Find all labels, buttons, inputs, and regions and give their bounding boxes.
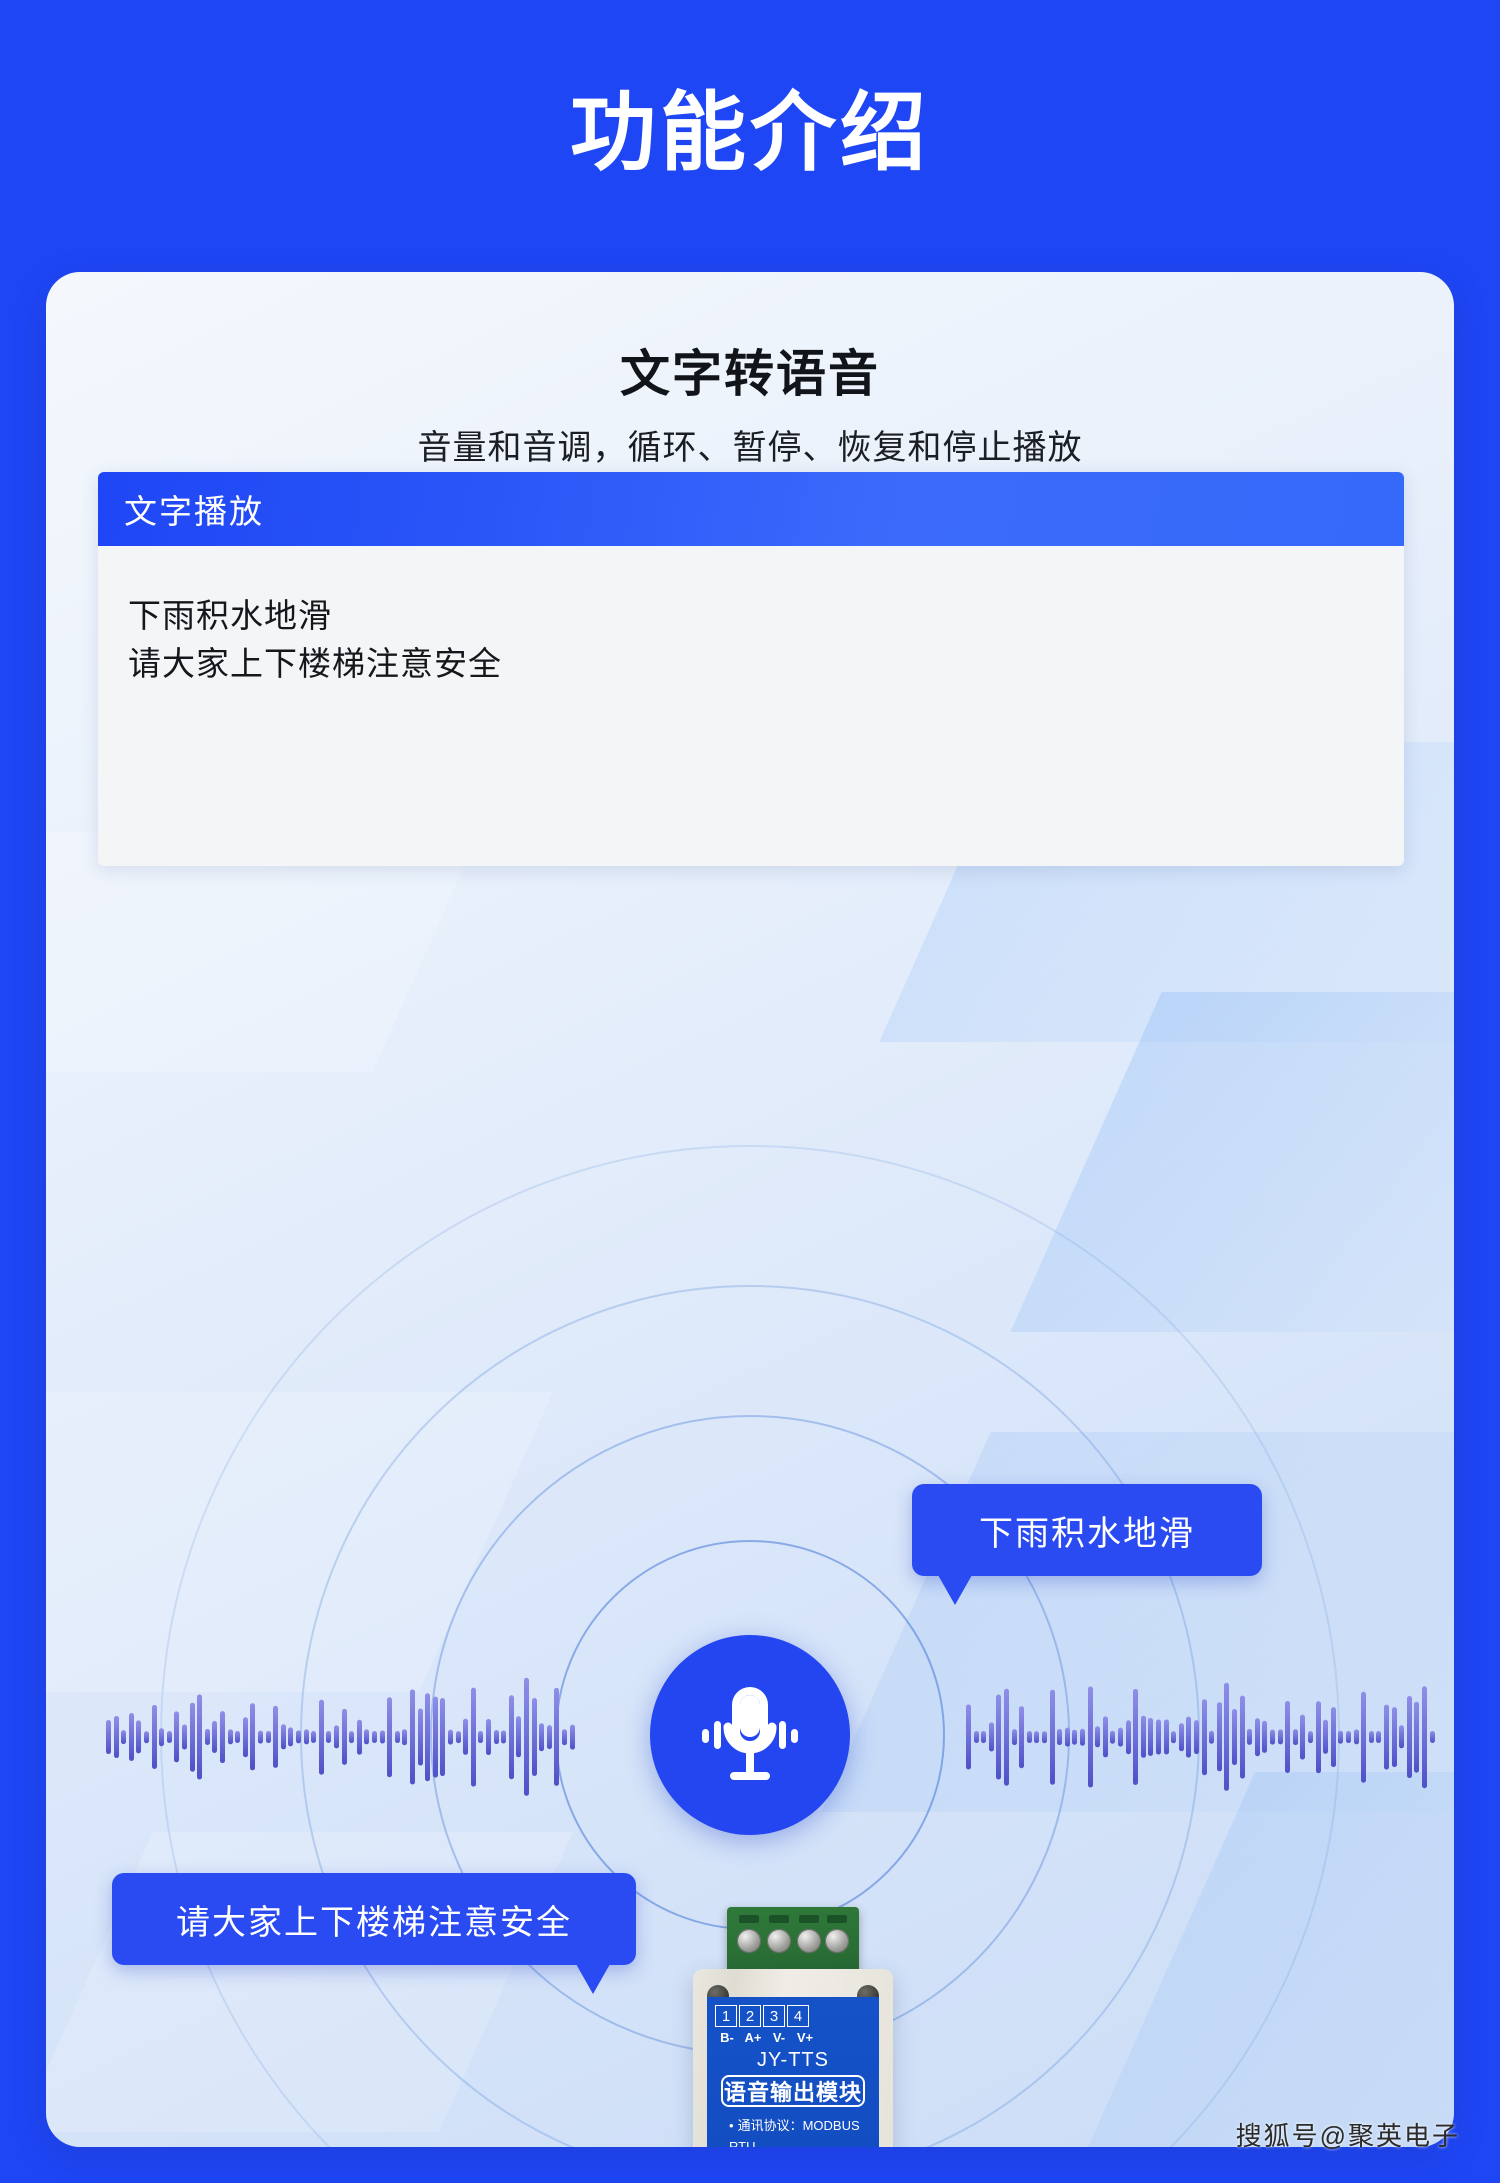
waveform-bar [1262, 1721, 1267, 1753]
waveform-bar [532, 1698, 537, 1776]
waveform-bar [190, 1702, 195, 1771]
waveform-bar [1247, 1729, 1252, 1745]
terminal-signal: V- [767, 2030, 791, 2045]
waveform-bar [357, 1719, 362, 1755]
waveform-bar [478, 1731, 483, 1743]
waveform-bar [304, 1730, 309, 1745]
terminal-number: 2 [739, 2005, 761, 2027]
waveform-bar [1278, 1730, 1283, 1745]
waveform-bar [296, 1731, 301, 1744]
waveform-bar [1186, 1716, 1191, 1757]
waveform-bar [1133, 1689, 1138, 1785]
waveform-bar [174, 1712, 179, 1763]
waveform-bar [1050, 1689, 1055, 1784]
waveform-bar [1103, 1717, 1108, 1758]
waveform-bar [1072, 1729, 1077, 1744]
waveform-bar [1331, 1707, 1336, 1767]
waveform-bar [1019, 1706, 1024, 1768]
microphone-badge [650, 1635, 850, 1835]
waveform-bar [1118, 1727, 1123, 1746]
waveform-bar [1004, 1688, 1009, 1786]
waveform-bar [501, 1731, 506, 1744]
card-title: 文字转语音 [46, 334, 1454, 406]
waveform-bar [311, 1731, 316, 1743]
waveform-bar [212, 1721, 217, 1753]
terminal-number: 1 [715, 2005, 737, 2027]
text-play-line: 下雨积水地滑 [128, 592, 1374, 640]
waveform-bar [349, 1731, 354, 1743]
audio-waveform-right [966, 1677, 1446, 1797]
waveform-bar [547, 1725, 552, 1749]
card-subtitle: 音量和音调，循环、暂停、恢复和停止播放 [46, 420, 1454, 469]
waveform-bar [1308, 1731, 1313, 1743]
waveform-bar [463, 1719, 468, 1755]
waveform-bar [235, 1731, 240, 1743]
waveform-bar [1232, 1709, 1237, 1765]
terminal-number: 3 [763, 2005, 785, 2027]
waveform-bar [1034, 1731, 1039, 1743]
waveform-bar [554, 1688, 559, 1786]
waveform-bar [1179, 1723, 1184, 1752]
waveform-bar [1148, 1718, 1153, 1756]
waveform-bar [1300, 1714, 1305, 1759]
waveform-bar [1126, 1720, 1131, 1755]
waveform-bar [486, 1719, 491, 1755]
device-label: 1 2 3 4 B- A+ V- V+ JY-TTS 语音输出模块 通讯协议：M… [707, 1997, 879, 2147]
waveform-bar [456, 1731, 461, 1743]
waveform-bar [372, 1731, 377, 1743]
watermark: 搜狐号@聚英电子 [1236, 2116, 1460, 2153]
waveform-bar [182, 1724, 187, 1749]
waveform-bar [524, 1678, 529, 1796]
speech-bubble-bottom: 请大家上下楼梯注意安全 [112, 1873, 636, 1965]
waveform-bar [220, 1711, 225, 1763]
waveform-bar [1217, 1703, 1222, 1772]
terminal-numbers: 1 2 3 4 [715, 2005, 809, 2027]
device-model: JY-TTS [707, 2049, 879, 2072]
waveform-bar [1255, 1718, 1260, 1757]
waveform-bar [136, 1721, 141, 1754]
waveform-bar [326, 1731, 331, 1743]
text-play-panel-header-label: 文字播放 [124, 485, 264, 533]
terminal-number: 4 [787, 2005, 809, 2027]
waveform-bar [1240, 1695, 1245, 1778]
waveform-bar [395, 1731, 400, 1743]
waveform-bar [1224, 1683, 1229, 1791]
device-spec: 通讯协议：MODBUS RTU [729, 2115, 879, 2147]
device-specs: 通讯协议：MODBUS RTU 通讯端口：485 供 电：7-28V [729, 2115, 879, 2147]
bg-plate-1 [46, 832, 479, 1072]
waveform-bar [1156, 1719, 1161, 1754]
waveform-bar [516, 1717, 521, 1758]
waveform-bar [152, 1705, 157, 1769]
waveform-bar [1338, 1730, 1343, 1743]
text-play-panel-body: 下雨积水地滑 请大家上下楼梯注意安全 [98, 546, 1404, 688]
waveform-bar [494, 1730, 499, 1744]
waveform-bar [250, 1704, 255, 1771]
waveform-bar [1012, 1729, 1017, 1745]
waveform-bar [1346, 1731, 1351, 1743]
waveform-bar [1027, 1731, 1032, 1743]
waveform-bar [966, 1705, 971, 1770]
terminal-signal: A+ [741, 2030, 765, 2045]
waveform-bar [1369, 1731, 1374, 1743]
waveform-bar [1088, 1687, 1093, 1788]
waveform-bar [410, 1690, 415, 1785]
waveform-bar [243, 1717, 248, 1758]
waveform-bar [258, 1730, 263, 1743]
waveform-bar [1194, 1720, 1199, 1754]
waveform-bar [387, 1697, 392, 1778]
waveform-bar [425, 1693, 430, 1782]
waveform-bar [167, 1731, 172, 1743]
speech-bubble-top: 下雨积水地滑 [912, 1484, 1262, 1576]
waveform-bar [1110, 1730, 1115, 1744]
waveform-bar [106, 1720, 111, 1754]
terminal-signal: B- [715, 2030, 739, 2045]
waveform-bar [1323, 1720, 1328, 1754]
waveform-bar [418, 1708, 423, 1765]
waveform-bar [159, 1728, 164, 1746]
terminal-signals: B- A+ V- V+ [715, 2030, 817, 2045]
speech-bubble-top-label: 下雨积水地滑 [979, 1506, 1195, 1555]
waveform-bar [996, 1695, 1001, 1780]
waveform-bar [1430, 1731, 1435, 1743]
waveform-bar [1171, 1731, 1176, 1744]
waveform-bar [1407, 1696, 1412, 1778]
waveform-bar [1141, 1716, 1146, 1758]
speech-bubble-bottom-label: 请大家上下楼梯注意安全 [176, 1895, 572, 1944]
waveform-bar [1414, 1701, 1419, 1773]
waveform-bar [334, 1726, 339, 1749]
audio-waveform-left [106, 1677, 586, 1797]
waveform-bar [364, 1730, 369, 1745]
waveform-bar [570, 1724, 575, 1749]
waveform-bar [129, 1713, 134, 1761]
waveform-bar [989, 1723, 994, 1752]
waveform-bar [342, 1709, 347, 1765]
waveform-bar [1399, 1726, 1404, 1749]
waveform-bar [1209, 1730, 1214, 1744]
waveform-bar [1202, 1699, 1207, 1775]
text-play-line: 请大家上下楼梯注意安全 [128, 640, 1374, 688]
text-play-panel: 文字播放 下雨积水地滑 请大家上下楼梯注意安全 [98, 472, 1404, 866]
waveform-bar [1270, 1729, 1275, 1744]
waveform-bar [1065, 1727, 1070, 1746]
tts-device: 1 2 3 4 B- A+ V- V+ JY-TTS 语音输出模块 通讯协议：M… [673, 1897, 913, 2147]
text-play-panel-header: 文字播放 [98, 472, 1404, 546]
waveform-bar [1316, 1701, 1321, 1773]
waveform-bar [974, 1731, 979, 1743]
waveform-bar [1057, 1729, 1062, 1745]
waveform-bar [448, 1729, 453, 1744]
waveform-bar [281, 1725, 286, 1750]
waveform-bar [1095, 1727, 1100, 1748]
waveform-bar [228, 1730, 233, 1745]
waveform-bar [1285, 1701, 1290, 1773]
terminal-signal: V+ [793, 2030, 817, 2045]
waveform-bar [1080, 1728, 1085, 1746]
waveform-bar [440, 1698, 445, 1776]
waveform-bar [981, 1731, 986, 1743]
device-product-name: 语音输出模块 [721, 2075, 865, 2107]
waveform-bar [402, 1729, 407, 1746]
waveform-bar [1392, 1707, 1397, 1767]
waveform-bar [1293, 1729, 1298, 1745]
waveform-bar [273, 1706, 278, 1768]
waveform-bar [319, 1699, 324, 1775]
waveform-bar [197, 1695, 202, 1780]
waveform-bar [266, 1731, 271, 1743]
waveform-bar [121, 1730, 126, 1744]
waveform-bar [1361, 1691, 1366, 1783]
waveform-bar [1422, 1686, 1427, 1789]
waveform-bar [1354, 1730, 1359, 1745]
waveform-bar [205, 1729, 210, 1745]
waveform-bar [380, 1731, 385, 1744]
waveform-bar [1376, 1731, 1381, 1743]
page-title: 功能介绍 [0, 90, 1500, 176]
waveform-bar [144, 1731, 149, 1743]
waveform-bar [433, 1696, 438, 1777]
feature-card: 文字转语音 音量和音调，循环、暂停、恢复和停止播放 文字播放 下雨积水地滑 请大… [46, 272, 1454, 2147]
waveform-bar [1164, 1720, 1169, 1755]
waveform-bar [1384, 1704, 1389, 1769]
microphone-icon [684, 1669, 816, 1801]
waveform-bar [562, 1729, 567, 1745]
waveform-bar [509, 1695, 514, 1780]
waveform-bar [539, 1723, 544, 1752]
waveform-bar [471, 1687, 476, 1786]
waveform-bar [114, 1716, 119, 1758]
waveform-bar [1042, 1731, 1047, 1744]
waveform-bar [288, 1728, 293, 1747]
